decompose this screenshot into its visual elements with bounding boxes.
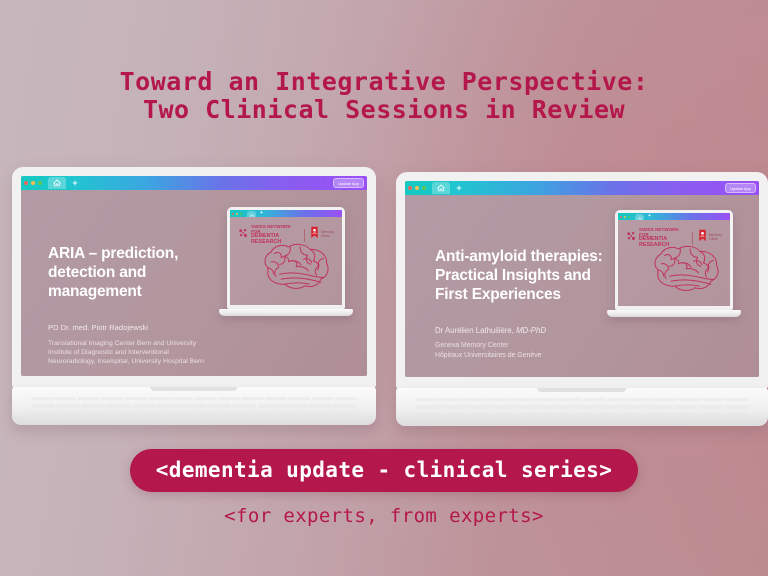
- keyboard-key: [443, 413, 470, 416]
- slide-left-affiliation-line-3: Neuroradiology, Inselspital, University …: [48, 357, 263, 366]
- keyboard-key: [595, 405, 620, 408]
- keyboard-key: [54, 397, 76, 400]
- dna-mark-icon: [626, 229, 637, 247]
- laptop-right-lid: + Update App Anti-amyloid therapies: Pra…: [396, 172, 768, 389]
- laptop-left-screen: + Update App ARIA – prediction, detectio…: [21, 176, 367, 376]
- laptop-left: + Update App ARIA – prediction, detectio…: [12, 167, 376, 425]
- inner-close-icon[interactable]: [620, 216, 622, 218]
- keyboard-key: [113, 412, 139, 415]
- keyboard-key: [106, 404, 130, 407]
- keyboard-row: [415, 405, 750, 408]
- keyboard-key: [124, 397, 146, 400]
- inner-maximize-icon[interactable]: [628, 216, 630, 218]
- keyboard-key: [722, 413, 749, 416]
- keyboard-key: [207, 404, 231, 407]
- poster-canvas: Toward an Integrative Perspective: Two C…: [0, 0, 768, 576]
- keyboard-key: [673, 405, 698, 408]
- inner-close-icon[interactable]: [232, 213, 234, 215]
- keyboard-key: [85, 412, 111, 415]
- keyboard-key: [31, 412, 57, 415]
- laptop-right: + Update App Anti-amyloid therapies: Pra…: [396, 172, 768, 426]
- keyboard-key: [666, 413, 693, 416]
- keyboard-row: [30, 397, 358, 400]
- keyboard-key: [312, 397, 334, 400]
- inner-screen-left: SWISS NETWORK FOR DEMENTIA RESEARCH: [230, 217, 342, 305]
- window-controls-right[interactable]: [408, 186, 426, 190]
- keyboard-key: [167, 412, 193, 415]
- inner-laptop-base-left: [219, 309, 353, 316]
- brain-illustration-right: [644, 239, 728, 301]
- home-icon: [437, 184, 445, 192]
- keyboard-key: [441, 405, 466, 408]
- maximize-icon[interactable]: [422, 186, 426, 190]
- keyboard-key: [611, 413, 638, 416]
- keyboard-key: [555, 413, 582, 416]
- laptop-left-notch: [150, 387, 237, 391]
- laptop-left-lid: + Update App ARIA – prediction, detectio…: [12, 167, 376, 388]
- slide-left-affiliation: Translational Imaging Center Bern and Un…: [48, 339, 263, 367]
- keyboard-key: [463, 398, 486, 401]
- inner-browser-toolbar-right[interactable]: +: [618, 213, 730, 220]
- inner-browser-tab-right[interactable]: [635, 214, 644, 220]
- brain-illustration-left: [254, 237, 338, 299]
- keyboard-key: [249, 412, 275, 415]
- browser-toolbar-right[interactable]: + Update App: [405, 181, 759, 195]
- keyboard-key: [698, 405, 723, 408]
- inner-window-left: +: [227, 207, 345, 309]
- keyboard-key: [276, 412, 302, 415]
- keyboard-key: [308, 404, 332, 407]
- slide-left-heading-line-2: detection and: [48, 263, 248, 282]
- keyboard-key: [439, 398, 462, 401]
- inner-minimize-icon[interactable]: [236, 213, 238, 215]
- keyboard-key: [171, 397, 193, 400]
- slide-right-affiliation-line-1: Geneva Memory Center: [435, 341, 645, 351]
- keyboard-key: [647, 405, 672, 408]
- slide-left: ARIA – prediction, detection and managem…: [21, 190, 367, 376]
- browser-tab-left[interactable]: [48, 177, 66, 189]
- keyboard-key: [583, 413, 610, 416]
- slide-left-affiliation-line-2: Institute of Diagnostic and Intervention…: [48, 348, 263, 357]
- keyboard-key: [544, 405, 569, 408]
- keyboard-key: [232, 404, 256, 407]
- keyboard-key: [195, 412, 221, 415]
- slide-left-heading-line-3: management: [48, 282, 248, 301]
- keyboard-key: [304, 412, 330, 415]
- keyboard-key: [31, 397, 53, 400]
- keyboard-key: [182, 404, 206, 407]
- keyboard-key: [132, 404, 156, 407]
- inner-screen-right: SWISS NETWORK FOR DEMENTIA RESEARCH: [618, 220, 730, 306]
- laptop-right-base: [396, 388, 768, 426]
- bottom-banner: <dementia update - clinical series> <for…: [0, 449, 768, 527]
- keyboard-key: [492, 405, 517, 408]
- series-badge: <dementia update - clinical series>: [130, 449, 639, 492]
- slide-right-presenter-role: MD-PhD: [516, 326, 546, 335]
- keyboard-key: [78, 397, 100, 400]
- minimize-icon[interactable]: [415, 186, 419, 190]
- keyboard-key: [218, 397, 240, 400]
- keyboard-key: [415, 398, 438, 401]
- keyboard-key: [607, 398, 630, 401]
- laptop-left-keyboard: [30, 397, 358, 415]
- minimize-icon[interactable]: [31, 181, 35, 185]
- inner-window-right: +: [615, 210, 733, 310]
- tagline: <for experts, from experts>: [0, 505, 768, 527]
- close-icon[interactable]: [408, 186, 412, 190]
- laptop-left-base: [12, 387, 376, 425]
- keyboard-key: [58, 412, 84, 415]
- keyboard-key: [288, 397, 310, 400]
- update-app-button-right[interactable]: Update App: [725, 183, 756, 193]
- keyboard-key: [471, 413, 498, 416]
- keyboard-key: [148, 397, 170, 400]
- keyboard-key: [195, 397, 217, 400]
- keyboard-key: [724, 405, 749, 408]
- new-tab-button-left[interactable]: +: [71, 177, 79, 189]
- keyboard-key: [621, 405, 646, 408]
- inner-browser-toolbar-left[interactable]: +: [230, 210, 342, 217]
- keyboard-key: [415, 405, 440, 408]
- keyboard-key: [258, 404, 282, 407]
- slide-right-presenter-name: Dr Aurélien Lathuilière,: [435, 326, 514, 335]
- inner-maximize-icon[interactable]: [240, 213, 242, 215]
- keyboard-key: [415, 413, 442, 416]
- keyboard-key: [101, 397, 123, 400]
- keyboard-key: [630, 398, 653, 401]
- home-icon: [53, 179, 61, 187]
- keyboard-key: [535, 398, 558, 401]
- keyboard-key: [499, 413, 526, 416]
- browser-toolbar-left[interactable]: + Update App: [21, 176, 367, 190]
- dna-mark-icon: [238, 226, 249, 244]
- keyboard-key: [694, 413, 721, 416]
- inner-minimize-icon[interactable]: [624, 216, 626, 218]
- keyboard-key: [157, 404, 181, 407]
- keyboard-key: [331, 412, 357, 415]
- title-line-2: Two Clinical Sessions in Review: [0, 96, 768, 124]
- title-line-1: Toward an Integrative Perspective:: [0, 68, 768, 96]
- slide-left-affiliation-line-1: Translational Imaging Center Bern and Un…: [48, 339, 263, 348]
- keyboard-key: [654, 398, 677, 401]
- keyboard-key: [638, 413, 665, 416]
- keyboard-key: [527, 413, 554, 416]
- keyboard-key: [583, 398, 606, 401]
- keyboard-key: [702, 398, 725, 401]
- keyboard-key: [283, 404, 307, 407]
- keyboard-key: [56, 404, 80, 407]
- slide-left-presenter: PD Dr. med. Piotr Radojewski: [48, 323, 148, 333]
- keyboard-row: [415, 398, 750, 401]
- page-title: Toward an Integrative Perspective: Two C…: [0, 68, 768, 124]
- keyboard-key: [140, 412, 166, 415]
- keyboard-row: [30, 404, 358, 407]
- keyboard-key: [81, 404, 105, 407]
- keyboard-key: [559, 398, 582, 401]
- window-controls-left[interactable]: [24, 181, 42, 185]
- keyboard-key: [335, 397, 357, 400]
- slide-right-affiliation: Geneva Memory Center Hôpitaux Universita…: [435, 341, 645, 361]
- keyboard-row: [415, 413, 750, 416]
- laptop-right-screen: + Update App Anti-amyloid therapies: Pra…: [405, 181, 759, 377]
- browser-tab-right[interactable]: [432, 182, 450, 194]
- keyboard-key: [241, 397, 263, 400]
- inner-browser-tab-left[interactable]: [247, 211, 256, 217]
- slide-left-heading: ARIA – prediction, detection and managem…: [48, 244, 248, 301]
- keyboard-key: [487, 398, 510, 401]
- slide-right-presenter: Dr Aurélien Lathuilière, MD-PhD: [435, 326, 546, 336]
- keyboard-key: [467, 405, 492, 408]
- keyboard-key: [31, 404, 55, 407]
- new-tab-button-right[interactable]: +: [455, 182, 463, 194]
- laptop-right-keyboard: [415, 398, 750, 416]
- keyboard-key: [518, 405, 543, 408]
- maximize-icon[interactable]: [38, 181, 42, 185]
- inner-new-tab-button-left[interactable]: +: [260, 211, 263, 216]
- keyboard-key: [265, 397, 287, 400]
- inner-laptop-base-right: [607, 310, 741, 317]
- keyboard-key: [511, 398, 534, 401]
- keyboard-key: [333, 404, 357, 407]
- keyboard-key: [222, 412, 248, 415]
- slide-right-affiliation-line-2: Hôpitaux Universitaires de Genève: [435, 351, 645, 361]
- keyboard-key: [678, 398, 701, 401]
- laptop-right-notch: [537, 388, 626, 392]
- keyboard-row: [30, 412, 358, 415]
- slide-right: Anti-amyloid therapies: Practical Insigh…: [405, 195, 759, 377]
- keyboard-key: [726, 398, 749, 401]
- inner-new-tab-button-right[interactable]: +: [648, 214, 651, 219]
- close-icon[interactable]: [24, 181, 28, 185]
- update-app-button-left[interactable]: Update App: [333, 178, 364, 188]
- keyboard-key: [570, 405, 595, 408]
- slide-left-heading-line-1: ARIA – prediction,: [48, 244, 248, 263]
